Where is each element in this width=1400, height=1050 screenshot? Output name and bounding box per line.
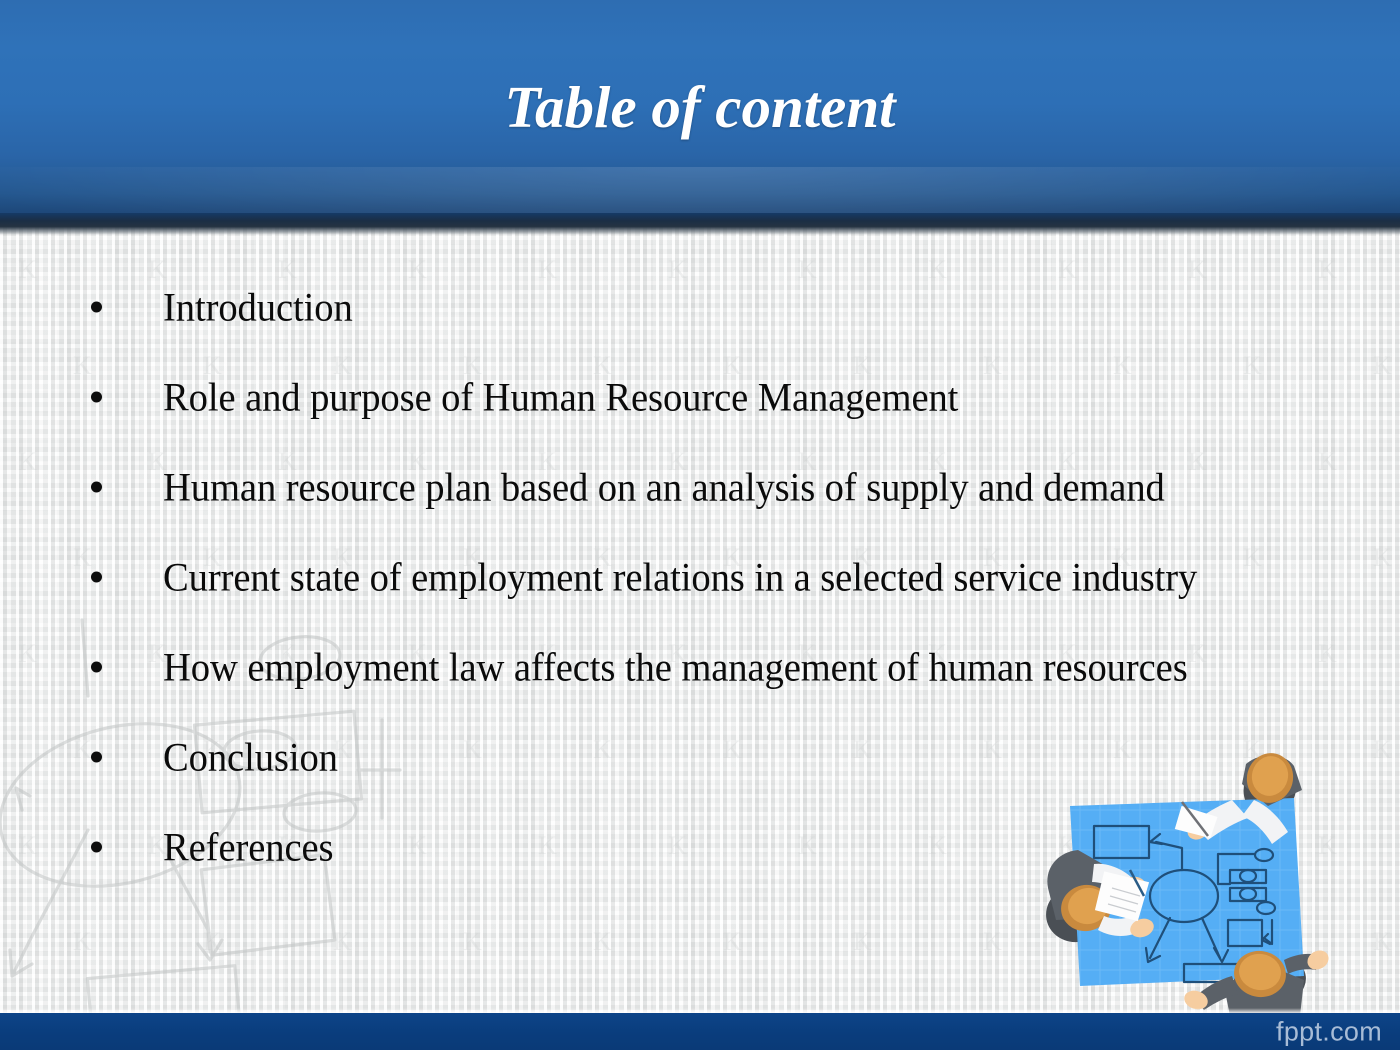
header-bottom-edge	[0, 213, 1400, 235]
bullet-dot-icon	[91, 482, 102, 493]
team-planning-blueprint-illustration	[1032, 748, 1342, 1018]
list-item: Human resource plan based on an analysis…	[0, 442, 1400, 532]
list-item: Current state of employment relations in…	[0, 532, 1400, 622]
list-item-label: Current state of employment relations in…	[163, 554, 1197, 601]
bullet-dot-icon	[91, 392, 102, 403]
slide-footer-bar: fppt.com	[0, 1013, 1400, 1050]
list-item-label: Role and purpose of Human Resource Manag…	[163, 374, 958, 421]
list-item: How employment law affects the managemen…	[0, 622, 1400, 712]
list-item: Role and purpose of Human Resource Manag…	[0, 352, 1400, 442]
list-item-label: Introduction	[163, 284, 353, 331]
bullet-dot-icon	[91, 842, 102, 853]
bullet-dot-icon	[91, 572, 102, 583]
list-item-label: References	[163, 824, 333, 871]
footer-brand-label: fppt.com	[1276, 1016, 1382, 1047]
slide-header-band: Table of content	[0, 0, 1400, 215]
list-item-label: Human resource plan based on an analysis…	[163, 464, 1165, 511]
presentation-slide: KKKKKKKKKKKKKKKKKKKKKKKKKKKKKKKKKKKKKKKK…	[0, 0, 1400, 1050]
bullet-dot-icon	[91, 752, 102, 763]
page-title: Table of content	[0, 0, 1400, 215]
bullet-dot-icon	[91, 662, 102, 673]
list-item-label: Conclusion	[163, 734, 338, 781]
bullet-dot-icon	[91, 302, 102, 313]
list-item: Introduction	[0, 262, 1400, 352]
list-item-label: How employment law affects the managemen…	[163, 644, 1188, 691]
